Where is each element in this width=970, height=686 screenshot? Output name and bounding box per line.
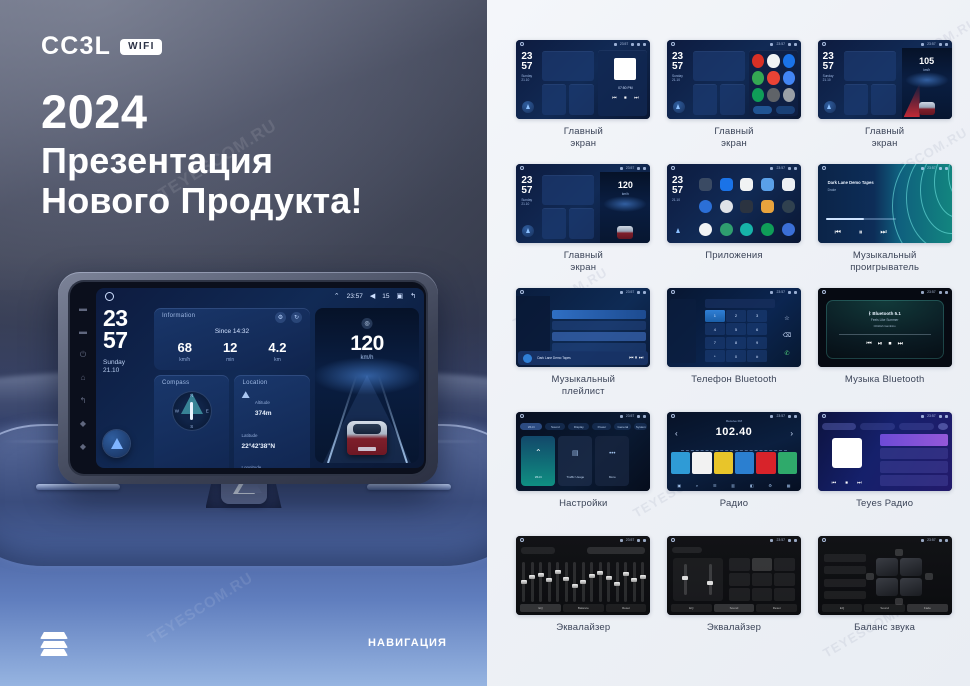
- hero-headline-line2: Нового Продукта!: [41, 181, 363, 221]
- pause-icon: ⏸: [859, 229, 863, 237]
- settings-tile[interactable]: ••• More: [595, 436, 629, 486]
- gallery-caption: Музыкальный проигрыватель: [850, 250, 919, 274]
- gallery-item[interactable]: 23:57 ⏮⏹⏭ Teye: [812, 412, 957, 536]
- speed-value: 120: [600, 180, 650, 190]
- eq-band: [590, 562, 593, 602]
- radio-toolbar[interactable]: ▣⌕☰▥◧⚙▦: [670, 482, 798, 489]
- eq-band: [556, 562, 559, 602]
- volume-down-icon[interactable]: ▬: [79, 305, 87, 313]
- status-bar: ⌃ 23:57 ◀ 15 ▣ ↰: [96, 288, 424, 304]
- playlist-row[interactable]: [552, 321, 646, 330]
- gallery-caption: Радио: [720, 498, 748, 510]
- media-controls[interactable]: ⏮⏯⏹⏭: [866, 341, 903, 348]
- data-usage-icon: ▤: [558, 449, 592, 457]
- app-icon: [761, 200, 774, 213]
- hero-panel: CC3L WIFI 2024 Презентация Нового Продук…: [0, 0, 487, 686]
- speed-unit: km/h: [902, 68, 952, 72]
- gallery-caption: Музыкальный плейлист: [551, 374, 615, 398]
- call-icon: ✆: [784, 350, 789, 357]
- dial-key: 2: [726, 310, 746, 322]
- thumbnail-apps[interactable]: 23:57 2357 21.10: [667, 164, 801, 243]
- settings-tab[interactable]: System: [634, 423, 647, 430]
- widget-column: Information ⚙ ↻ Since 14:32 68 km/h: [154, 308, 310, 463]
- next-icon: ⏭: [634, 95, 639, 101]
- play-icon: ⏹: [624, 95, 627, 101]
- navigation-orb-button[interactable]: [824, 101, 836, 113]
- station-row: [880, 475, 948, 487]
- preset-selector[interactable]: [587, 547, 645, 554]
- eq-band: [633, 562, 636, 602]
- tuning-scale[interactable]: [681, 446, 787, 451]
- waveform-visual: [890, 164, 952, 243]
- gallery-caption: Эквалайзер: [556, 622, 610, 634]
- hero-year: 2024: [41, 88, 363, 135]
- thumbnail-music-playlist[interactable]: 23:57 Dark Lane Demo Tapes ⏮ ⏸ ⏭: [516, 288, 650, 367]
- thumbnail-home-drive[interactable]: 23:57 2357 Sunday21.10 120 km/h: [516, 164, 650, 243]
- app-icon: [699, 200, 712, 213]
- thumbnail-home-apps[interactable]: 23:57 2357 Sunday21.10: [667, 40, 801, 119]
- information-stats: 68 km/h 12 min 4.2 km: [162, 341, 302, 363]
- gallery-item[interactable]: 23:57 Dark Lane Demo Tapes Drake ⏮⏸⏭ Муз…: [812, 164, 957, 288]
- home-icon: [822, 42, 826, 46]
- balance-preset-row: [824, 591, 866, 599]
- preset-button: [774, 588, 795, 601]
- preset-button: [774, 558, 795, 571]
- speed-unit: km/h: [315, 355, 419, 361]
- gallery-item[interactable]: 23:57 2357 Sunday21.10 07:50 PM ⏮⏹⏭ Глав…: [511, 40, 656, 164]
- home-icon: [822, 290, 826, 294]
- gallery-caption: Главный экран: [865, 126, 904, 150]
- seat: [900, 578, 922, 596]
- logo-wifi-badge: WIFI: [120, 39, 162, 55]
- gallery-item[interactable]: 23:57 2357 Sunday21.10: [662, 40, 807, 164]
- compass-dial: N E S W: [172, 391, 212, 431]
- playlist-row[interactable]: [552, 332, 646, 341]
- now-playing-bar[interactable]: Dark Lane Demo Tapes ⏮ ⏸ ⏭: [518, 351, 648, 365]
- screenshot-icon[interactable]: ▣: [397, 292, 404, 300]
- settings-tile[interactable]: ▤ Traffic Usage: [558, 436, 592, 486]
- latitude-value: 22°42'38"N: [241, 442, 303, 452]
- home-icon: [520, 414, 524, 418]
- settings-tile[interactable]: ⌃ Wi-Fi: [521, 436, 555, 486]
- bluetooth-icon: ᛒ: [868, 311, 871, 316]
- footer-tab: Fade: [907, 604, 948, 612]
- settings-icon: ⚙: [768, 483, 772, 488]
- thumb-time: 23:57: [776, 166, 785, 170]
- media-controls[interactable]: ⏮⏹⏭: [832, 480, 862, 486]
- thumbnail-radio[interactable]: 23:57 Receive FM 102.40 ‹ ›: [667, 412, 801, 491]
- home-icon: [671, 538, 675, 542]
- gallery-item[interactable]: 23:57 2357 Sunday21.10 105 km/h Главны: [812, 40, 957, 164]
- station-row: [880, 461, 948, 473]
- mute-icon[interactable]: ◆: [80, 420, 86, 428]
- volume-icon: ◀: [370, 292, 375, 300]
- thumbnail-equalizer-presets[interactable]: 23:57 EQ Sound Reset: [667, 536, 801, 615]
- home-icon: [520, 538, 524, 542]
- gallery-caption: Баланс звука: [854, 622, 915, 634]
- eq-band: [539, 562, 542, 602]
- prev-icon: ⏮: [835, 229, 841, 237]
- eq-band: [565, 562, 568, 602]
- balance-up-button[interactable]: [895, 549, 903, 556]
- thumb-time: 23:57: [626, 290, 635, 294]
- home-icon: [520, 166, 524, 170]
- eq-band: [582, 562, 585, 602]
- track-title: Dark Lane Demo Tapes: [828, 180, 874, 185]
- thumb-time: 23:57: [626, 414, 635, 418]
- media-controls[interactable]: ⏮⏸⏭: [826, 229, 896, 237]
- home-icon: [671, 42, 675, 46]
- hero-headline-line1: Презентация: [41, 141, 363, 181]
- gallery-item[interactable]: 23:57 Dark Lane Demo Tapes ⏮ ⏸ ⏭ Музыкал…: [511, 288, 656, 412]
- speed-unit: km/h: [600, 192, 650, 196]
- dial-key: 7: [705, 337, 725, 349]
- gallery-item[interactable]: 23:57 Receive FM 102.40 ‹ ›: [662, 412, 807, 536]
- progress-bar[interactable]: [839, 334, 931, 335]
- track-artist: Drake: [828, 188, 837, 192]
- seat: [876, 578, 898, 596]
- layers-icon: [40, 632, 68, 656]
- seat: [900, 558, 922, 576]
- home-icon: [822, 166, 826, 170]
- cruise-control-icon: ◎: [362, 318, 373, 329]
- app-icon: [699, 223, 712, 236]
- wifi-icon: ⌃: [334, 292, 340, 300]
- next-station-button[interactable]: ›: [790, 429, 793, 438]
- information-since: Since 14:32: [162, 328, 302, 335]
- eq-band: [522, 562, 525, 602]
- prev-station-button[interactable]: ‹: [675, 429, 678, 438]
- altitude-label: Altitude: [255, 400, 270, 405]
- dial-key: 3: [747, 310, 767, 322]
- app-shortcut-grid[interactable]: [752, 54, 795, 102]
- thumb-date: 21.10: [672, 198, 680, 202]
- compass-card[interactable]: Compass N E S W 180°: [154, 375, 229, 468]
- next-icon: ⏭: [898, 341, 903, 348]
- phone-actions[interactable]: ☆⌫✆: [776, 310, 798, 362]
- app-icon: [761, 223, 774, 236]
- thumbnail-teyes-radio[interactable]: 23:57 ⏮⏹⏭: [818, 412, 952, 491]
- media-controls: ⏮ ⏸ ⏭: [629, 355, 643, 361]
- home-icon: [671, 290, 675, 294]
- star-icon: ☆: [784, 315, 789, 322]
- balance-preset-row: [824, 579, 866, 587]
- thumb-time: 23:57: [776, 42, 785, 46]
- screenshot-gallery: TEYESCOM.RU TEYESCOM.RU TEYESCOM.RU TEYE…: [487, 0, 970, 686]
- app-icon: [740, 200, 753, 213]
- more-icon: •••: [595, 451, 629, 457]
- app-icon: [761, 178, 774, 191]
- speed-value: 105: [902, 56, 952, 66]
- home-icon: [671, 166, 675, 170]
- thumbnail-settings[interactable]: 23:57 Wi-Fi Sound Display Power General …: [516, 412, 650, 491]
- app-drawer-grid[interactable]: [697, 175, 797, 239]
- home-icon: [520, 42, 524, 46]
- bt-track-artist: Childish Gambino: [874, 324, 896, 328]
- footer-tab: EQ: [520, 604, 561, 612]
- gallery-caption: Главный экран: [564, 250, 603, 274]
- latitude-label: Latitude: [241, 433, 257, 438]
- dial-key: 4: [705, 323, 725, 335]
- thumb-clock: 2357: [672, 52, 683, 71]
- ego-car-graphic: [919, 102, 935, 115]
- radio-frequency: 102.40: [667, 426, 801, 438]
- equalizer-footer[interactable]: EQ Sound Reset: [671, 604, 797, 612]
- radio-preset: [735, 452, 754, 474]
- settings-tile-label: Traffic Usage: [558, 475, 592, 479]
- seat: [876, 558, 898, 576]
- preset-label[interactable]: [521, 547, 555, 554]
- clock-minutes: 57: [103, 330, 149, 352]
- thumb-clock: 2357: [521, 176, 532, 195]
- gear-icon[interactable]: ⚙: [275, 312, 286, 323]
- gallery-caption: Приложения: [705, 250, 763, 262]
- dial-key: 1: [705, 310, 725, 322]
- vent-slat: [367, 484, 451, 490]
- thumb-date: Sunday21.10: [521, 198, 532, 207]
- stat-value: 68: [177, 341, 191, 354]
- thumb-time: 23:57: [776, 538, 785, 542]
- band-icon: ▣: [677, 483, 681, 488]
- gallery-item[interactable]: 23:57 2357 21.10: [662, 164, 807, 288]
- location-card[interactable]: Location ⛰ Altitude 374m Latitude: [234, 375, 310, 468]
- thumb-time: 23:57: [626, 538, 635, 542]
- stop-icon: ⏹: [845, 480, 848, 486]
- settings-tile-label: Wi-Fi: [521, 475, 555, 479]
- cabin-seat-map[interactable]: [876, 558, 922, 596]
- vent-slat: [36, 484, 120, 490]
- gallery-caption: Главный экран: [714, 126, 753, 150]
- app-icon: [740, 178, 753, 191]
- compass-east-label: E: [206, 409, 209, 414]
- balance-footer[interactable]: EQ Sound Fade: [822, 604, 948, 612]
- home-icon[interactable]: ⌂: [81, 374, 86, 382]
- thumb-date: Sunday21.10: [823, 74, 834, 83]
- radio-preset: [671, 452, 690, 474]
- gallery-item[interactable]: 23:57 1 2 3 4 5 6 7 8 9 * 0: [662, 288, 807, 412]
- hero-footer: НАВИГАЦИЯ: [0, 612, 487, 686]
- drive-assist-panel[interactable]: ◎ 120 km/h: [315, 308, 419, 463]
- equalizer-footer[interactable]: EQ Balance Reset: [520, 604, 646, 612]
- logo-text: CC3L: [41, 32, 111, 61]
- dial-key: 8: [726, 337, 746, 349]
- gallery-caption: Главный экран: [564, 126, 603, 150]
- preset-button: [729, 573, 750, 586]
- preset-button: [774, 573, 795, 586]
- home-icon: [671, 414, 675, 418]
- eq-band: [573, 562, 576, 602]
- thumbnail-home-drive-warning[interactable]: 23:57 2357 Sunday21.10 105 km/h: [818, 40, 952, 119]
- tune-icon: ◧: [750, 483, 754, 488]
- dock[interactable]: [753, 106, 795, 114]
- head-unit-device: ▬ ▬ ⏻ ⌂ ↰ ◆ ◆ ⌃ 23:57 ◀ 15 ▣ ↰: [58, 272, 438, 484]
- longitude-label: Longitude: [241, 465, 261, 469]
- phone-sidebar[interactable]: [670, 299, 696, 363]
- gallery-caption: Музыка Bluetooth: [845, 374, 925, 386]
- stat-unit: km: [268, 357, 286, 363]
- home-icon[interactable]: [105, 292, 114, 301]
- settings-tab[interactable]: Display: [568, 423, 589, 430]
- backspace-icon: ⌫: [783, 332, 791, 339]
- gallery-item[interactable]: 23:57 2357 Sunday21.10 120 km/h Главный …: [511, 164, 656, 288]
- next-icon: ⏭: [880, 229, 886, 237]
- app-icon: [720, 223, 733, 236]
- preset-button: [729, 558, 750, 571]
- footer-tab: Sound: [714, 604, 755, 612]
- back-icon[interactable]: ↰: [80, 397, 87, 405]
- radio-preset: [778, 452, 797, 474]
- information-card[interactable]: Information ⚙ ↻ Since 14:32 68 km/h: [154, 308, 310, 370]
- stat-unit: km/h: [177, 357, 191, 363]
- hero-headline: 2024 Презентация Нового Продукта!: [41, 88, 363, 222]
- refresh-icon[interactable]: ↻: [291, 312, 302, 323]
- dial-key: 0: [726, 350, 746, 362]
- dial-key: 5: [726, 323, 746, 335]
- station-row: [880, 448, 948, 460]
- thumbnail-home-music[interactable]: 23:57 2357 Sunday21.10 07:50 PM ⏮⏹⏭: [516, 40, 650, 119]
- eq-band: [531, 562, 534, 602]
- altitude-icon: ⛰: [241, 391, 249, 401]
- playlist-row[interactable]: [552, 310, 646, 319]
- gallery-item[interactable]: 23:57 EQ: [812, 536, 957, 660]
- gallery-item[interactable]: 23:57 EQ Sound Reset: [662, 536, 807, 660]
- screen-body: 23 57 Sunday 21.10 Information: [96, 305, 424, 468]
- compass-card-title: Compass: [162, 380, 189, 386]
- compass-needle: [190, 402, 193, 420]
- thumbnail-sound-balance[interactable]: 23:57 EQ: [818, 536, 952, 615]
- settings-tab[interactable]: Power: [592, 423, 611, 430]
- device-side-buttons[interactable]: ▬ ▬ ⏻ ⌂ ↰ ◆ ◆: [72, 290, 94, 466]
- preset-button: [752, 588, 773, 601]
- back-icon[interactable]: ↰: [410, 292, 416, 300]
- eq-band: [607, 562, 610, 602]
- compass-south-label: S: [190, 424, 193, 429]
- eq-band: [624, 562, 627, 602]
- play-icon: ⏯: [878, 341, 883, 348]
- bluetooth-card: ᛒ Bluetooth 5.1 Feels Like Summer Childi…: [826, 300, 944, 359]
- thumb-time: 23:57: [927, 414, 936, 418]
- information-card-title: Information: [162, 313, 195, 319]
- clock-weekday: Sunday: [103, 359, 149, 368]
- album-art: [832, 438, 862, 468]
- dial-input[interactable]: [705, 299, 775, 308]
- power-icon[interactable]: ⏻: [80, 351, 86, 359]
- mini-track-title: Dark Lane Demo Tapes: [537, 356, 570, 360]
- eq-band: [599, 562, 602, 602]
- home-icon: [822, 414, 826, 418]
- thumb-clock: 2357: [672, 176, 683, 195]
- balance-presets[interactable]: [824, 552, 866, 601]
- back-button[interactable]: [673, 225, 685, 237]
- app-icon: [782, 200, 795, 213]
- stat-unit: min: [223, 357, 237, 363]
- thumb-time: 23:57: [927, 538, 936, 542]
- footer-tab: Sound: [864, 604, 905, 612]
- fader-pair[interactable]: [673, 558, 723, 601]
- app-icon: [782, 223, 795, 236]
- bt-track-title: Feels Like Summer: [871, 318, 898, 322]
- gallery-item[interactable]: 23:57 Wi-Fi Sound Display Power General …: [511, 412, 656, 536]
- album-art: [614, 58, 636, 80]
- radio-presets[interactable]: [671, 452, 797, 474]
- footer-tab: EQ: [822, 604, 863, 612]
- settings-tab[interactable]: General: [614, 423, 631, 430]
- stop-icon: ⏹: [889, 341, 892, 348]
- product-logo: CC3L WIFI: [41, 32, 162, 61]
- balance-right-button[interactable]: [925, 573, 933, 580]
- app-icon: [720, 200, 733, 213]
- location-card-title: Location: [242, 380, 267, 386]
- status-volume: 15: [382, 293, 389, 300]
- thumbnail-bluetooth-music[interactable]: 23:57 ᛒ Bluetooth 5.1 Feels Like Summer …: [818, 288, 952, 367]
- teyes-tabs[interactable]: [822, 423, 948, 430]
- preset-button: [729, 588, 750, 601]
- gallery-item[interactable]: 23:57 ᛒ Bluetooth 5.1 Feels Like Summer …: [812, 288, 957, 412]
- footer-tab: Reset: [756, 604, 797, 612]
- settings-tab[interactable]: Wi-Fi: [520, 423, 542, 430]
- navigation-orb-button[interactable]: [673, 101, 685, 113]
- thumb-time: 23:57: [620, 42, 629, 46]
- thumbnail-equalizer-bands[interactable]: 23:57: [516, 536, 650, 615]
- prev-icon: ⏮: [866, 341, 871, 348]
- thumb-date: Sunday21.10: [521, 74, 532, 83]
- station-list[interactable]: [880, 434, 948, 486]
- balance-left-button[interactable]: [866, 573, 874, 580]
- radio-preset: [714, 452, 733, 474]
- balance-preset-row: [824, 566, 866, 574]
- thumbnail-bluetooth-phone[interactable]: 23:57 1 2 3 4 5 6 7 8 9 * 0: [667, 288, 801, 367]
- eq-band: [641, 562, 644, 602]
- app-icon: [782, 178, 795, 191]
- thumb-time: 23:57: [927, 166, 936, 170]
- progress-bar[interactable]: [826, 218, 896, 220]
- eq-band: [616, 562, 619, 602]
- app-icon: [699, 178, 712, 191]
- gallery-grid: 23:57 2357 Sunday21.10 07:50 PM ⏮⏹⏭ Глав…: [511, 40, 957, 660]
- compass-west-label: W: [175, 409, 179, 414]
- equalizer-band-bank[interactable]: [522, 558, 644, 602]
- compass-north-label: N: [190, 393, 193, 398]
- bluetooth-title: Bluetooth 5.1: [872, 311, 901, 316]
- media-controls[interactable]: ⏮⏹⏭: [608, 95, 642, 101]
- speed-value: 120: [315, 332, 419, 356]
- dial-pad[interactable]: 1 2 3 4 5 6 7 8 9 * 0 #: [705, 310, 767, 362]
- volume-up-icon[interactable]: ▬: [79, 328, 87, 336]
- apps-icon: ▦: [787, 483, 791, 488]
- radio-preset: [692, 452, 711, 474]
- preset-button-grid[interactable]: [729, 558, 795, 601]
- track-time: 07:50 PM: [608, 86, 642, 90]
- footer-tab: Reset: [606, 604, 647, 612]
- thumb-time: 23:57: [927, 42, 936, 46]
- mic-icon[interactable]: ◆: [80, 443, 86, 451]
- presentation-slide: CC3L WIFI 2024 Презентация Нового Продук…: [0, 0, 970, 686]
- preset-button: [752, 573, 773, 586]
- gallery-item[interactable]: 23:57: [511, 536, 656, 660]
- gallery-caption: Телефон Bluetooth: [691, 374, 777, 386]
- home-icon: [822, 538, 826, 542]
- head-unit-screen[interactable]: ⌃ 23:57 ◀ 15 ▣ ↰ 23 57 Sunday 21.10: [96, 288, 424, 468]
- balance-preset-row: [824, 554, 866, 562]
- thumbnail-music-player[interactable]: 23:57 Dark Lane Demo Tapes Drake ⏮⏸⏭: [818, 164, 952, 243]
- gallery-caption: Teyes Радио: [856, 498, 913, 510]
- settings-tab[interactable]: Sound: [545, 423, 565, 430]
- navigation-orb-button[interactable]: [103, 430, 130, 457]
- stat-value: 12: [223, 341, 237, 354]
- navigation-footer-label: НАВИГАЦИЯ: [368, 637, 447, 649]
- prev-icon: ⏮: [612, 95, 617, 101]
- ego-car-graphic: [347, 421, 387, 455]
